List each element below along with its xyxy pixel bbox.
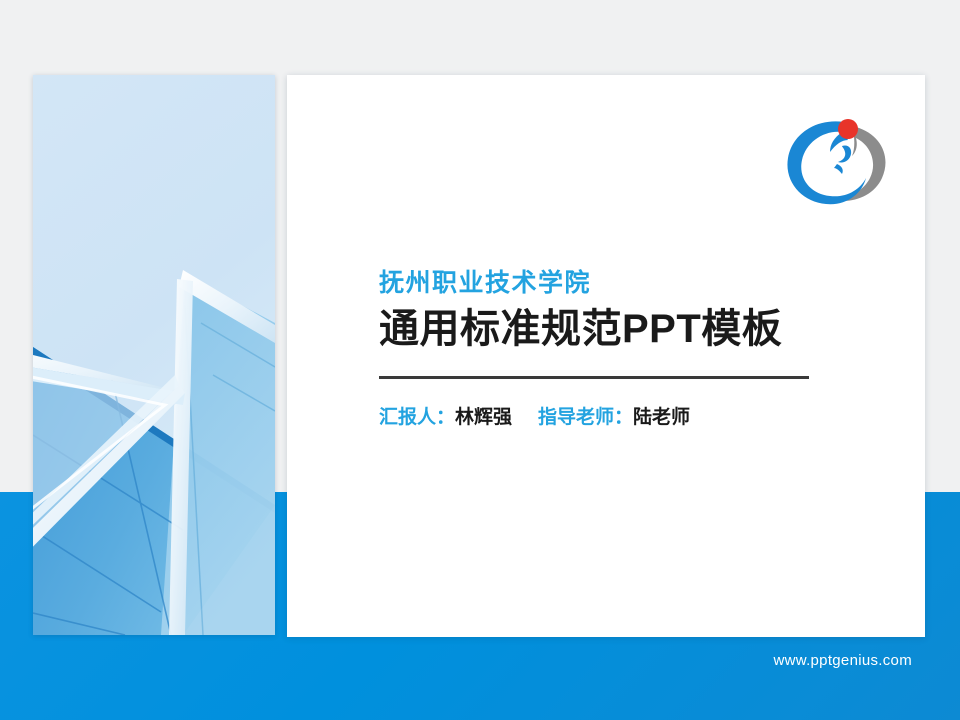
organization-name: 抚州职业技术学院 — [379, 266, 839, 300]
title-divider — [379, 376, 809, 379]
presentation-slide: 抚州职业技术学院 通用标准规范PPT模板 汇报人：林辉强指导老师：陆老师 www… — [0, 0, 960, 720]
presenter-name: 林辉强 — [455, 407, 512, 428]
footer-url[interactable]: www.pptgenius.com — [774, 652, 913, 669]
advisor-name: 陆老师 — [633, 407, 690, 428]
architecture-photo — [33, 75, 275, 635]
advisor-label: 指导老师： — [538, 407, 633, 428]
byline: 汇报人：林辉强指导老师：陆老师 — [379, 405, 839, 431]
title-block: 抚州职业技术学院 通用标准规范PPT模板 汇报人：林辉强指导老师：陆老师 — [379, 266, 839, 431]
fuzhou-vocational-college-logo — [782, 112, 892, 208]
presenter-label: 汇报人： — [379, 407, 455, 428]
page-title: 通用标准规范PPT模板 — [379, 304, 839, 354]
